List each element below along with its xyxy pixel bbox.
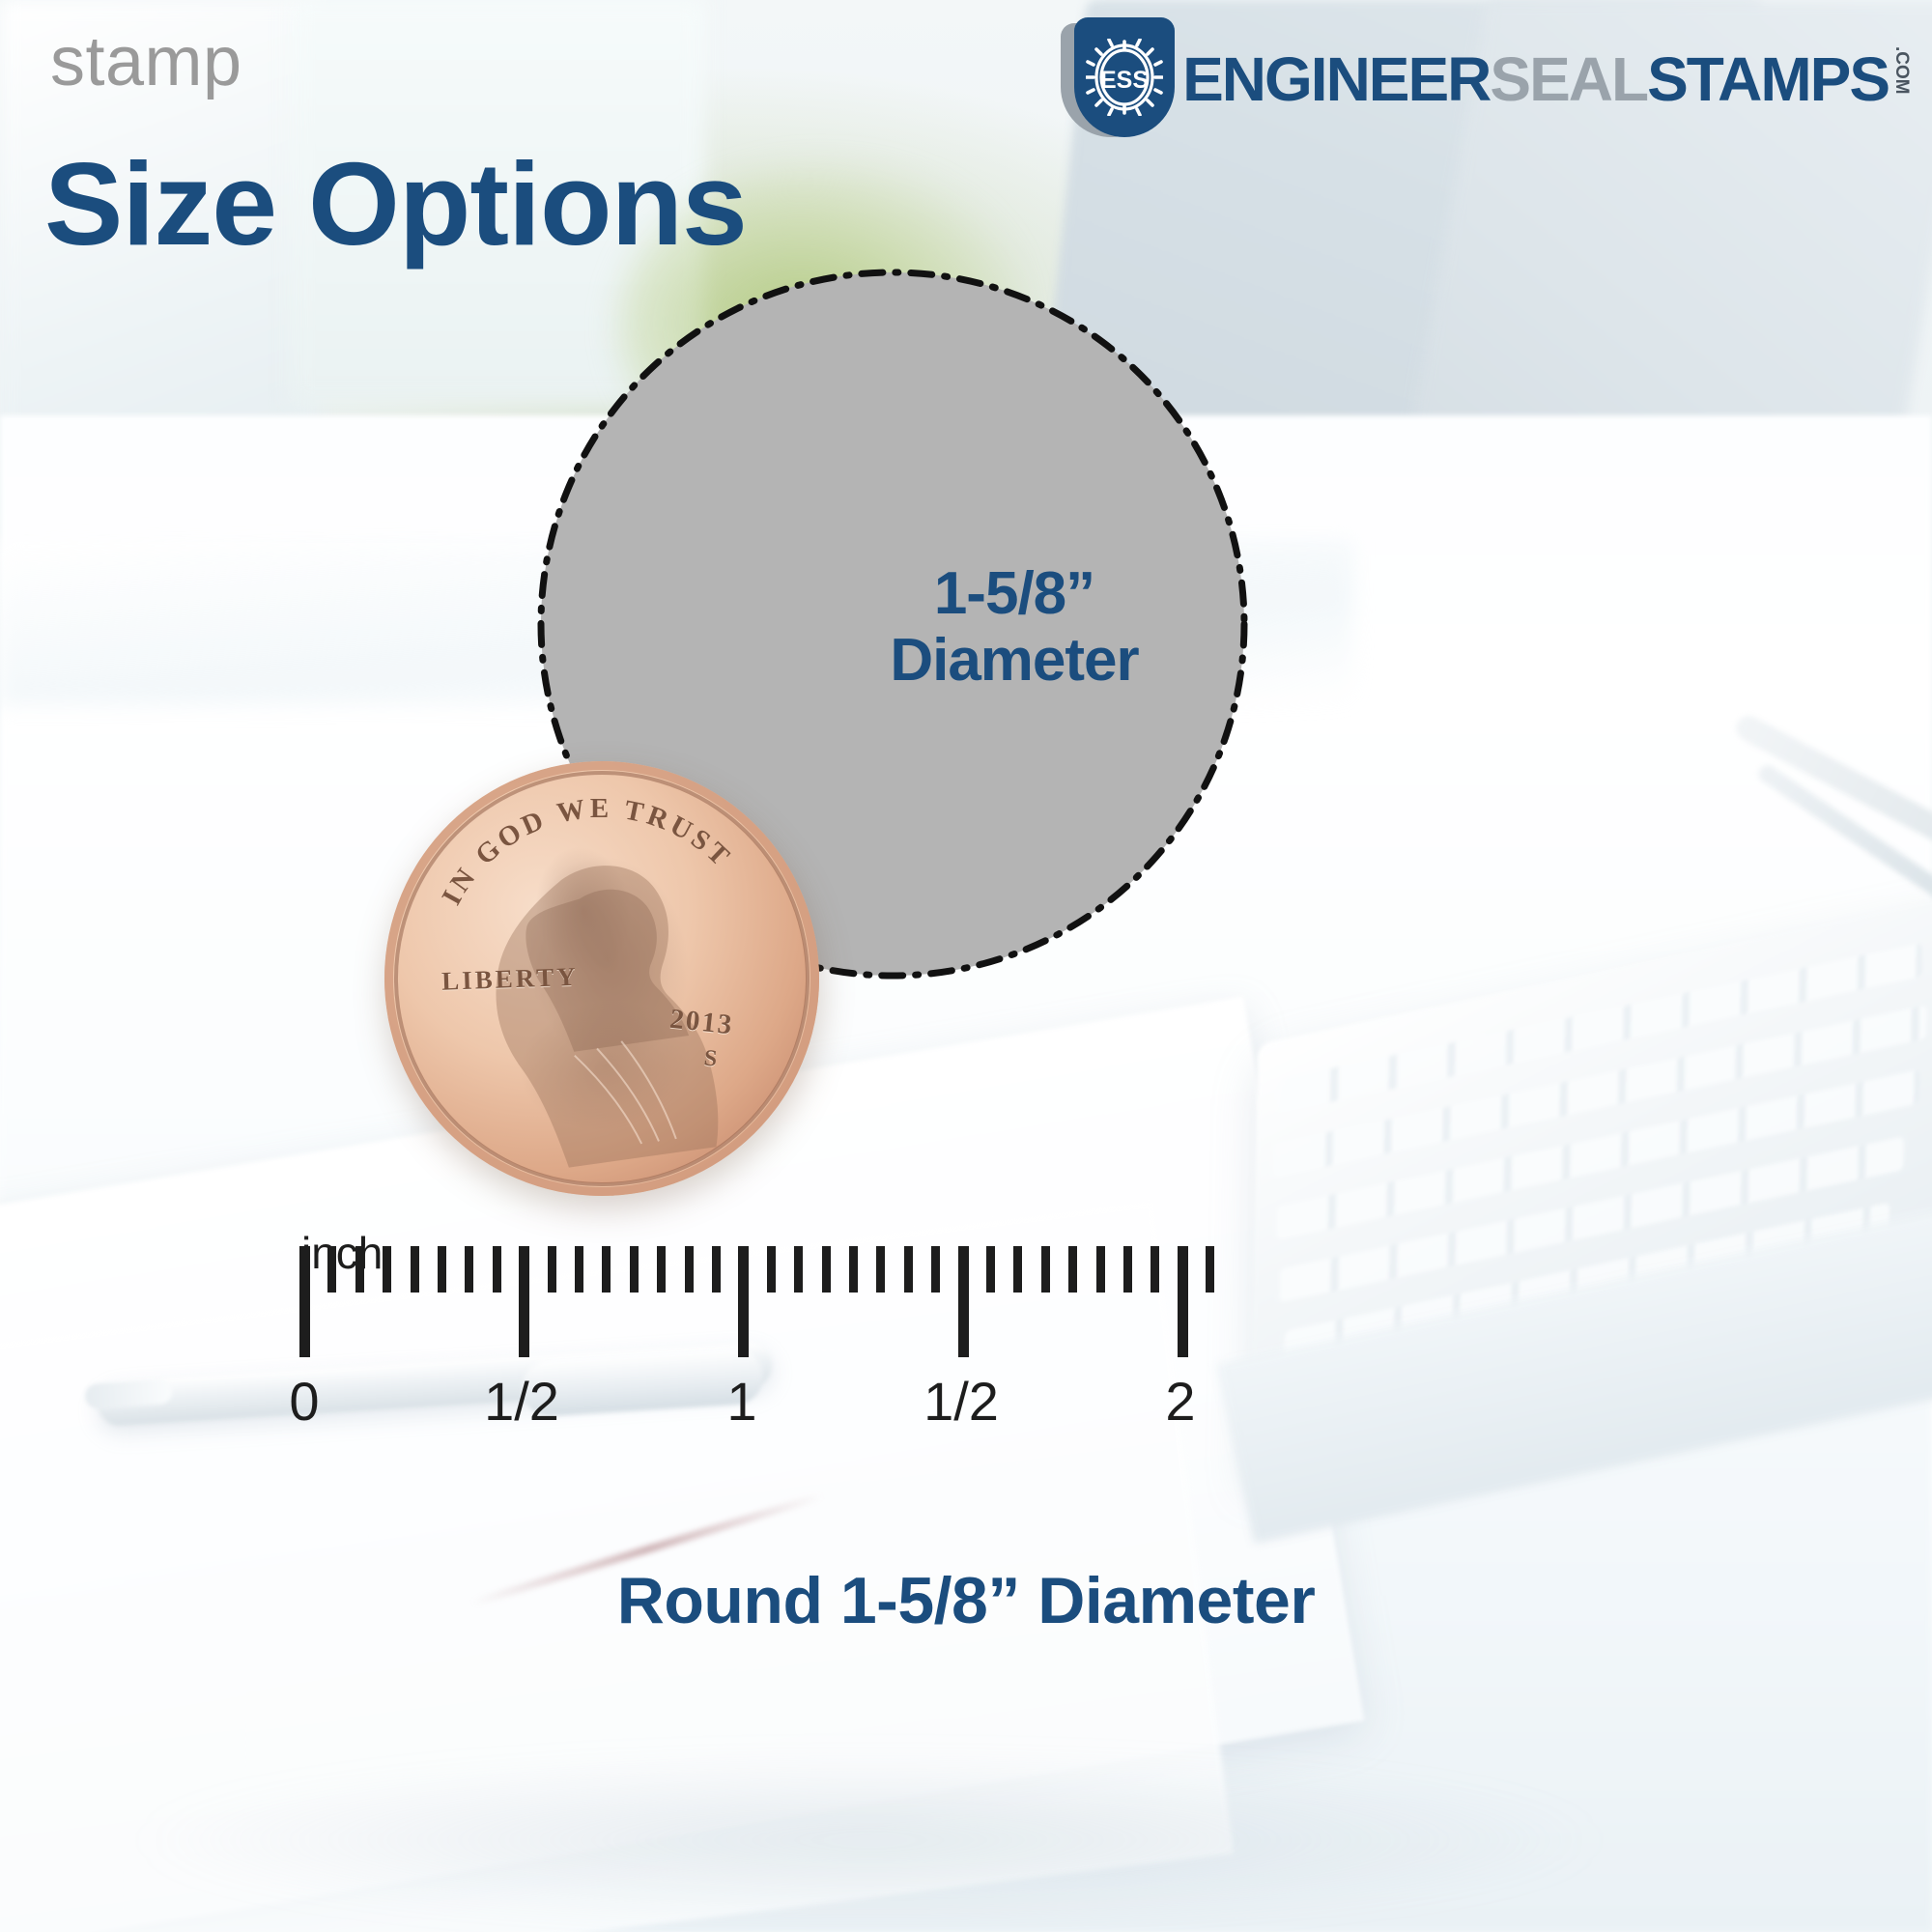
ruler-tick-major (958, 1246, 969, 1357)
ruler-tick-minor (986, 1246, 995, 1293)
kicker-label: stamp (50, 27, 242, 97)
size-circle-label: 1-5/8” Diameter (792, 560, 1236, 695)
ruler-tick-minor (876, 1246, 885, 1293)
ruler-label: 0 (246, 1370, 362, 1433)
ruler-tick-minor (383, 1246, 391, 1293)
ruler-tick-minor (1206, 1246, 1214, 1293)
logo-mark: ESS (1061, 17, 1175, 141)
ruler: 01/211/22 (0, 1246, 1932, 1497)
ruler-label: 1 (684, 1370, 800, 1433)
ruler-tick-minor (931, 1246, 940, 1293)
ruler-tick-minor (355, 1246, 364, 1293)
ruler-tick-minor (685, 1246, 694, 1293)
size-circle-dimension: 1-5/8” (792, 560, 1236, 627)
ruler-label: 1/2 (903, 1370, 1019, 1433)
penny-mint-mark: S (702, 1046, 718, 1073)
ruler-tick-minor (712, 1246, 721, 1293)
background-shadow (145, 1758, 1594, 1922)
ruler-tick-minor (794, 1246, 803, 1293)
ruler-tick-minor (822, 1246, 831, 1293)
logo-wordmark: ENGINEER SEAL STAMPS .COM (1182, 48, 1911, 110)
ruler-tick-minor (1151, 1246, 1159, 1293)
page-title: Size Options (44, 145, 747, 263)
ruler-label: 1/2 (464, 1370, 580, 1433)
logo-word-engineer: ENGINEER (1182, 48, 1490, 110)
ruler-tick-minor (1096, 1246, 1105, 1293)
ruler-tick-minor (1123, 1246, 1132, 1293)
logo-word-stamps: STAMPS (1647, 48, 1889, 110)
ruler-tick-major (738, 1246, 749, 1357)
ruler-tick-major (1178, 1246, 1188, 1357)
logo-word-seal: SEAL (1490, 48, 1647, 110)
size-options-graphic: stamp Size Options (0, 0, 1932, 1932)
ruler-tick-minor (411, 1246, 419, 1293)
ruler-tick-minor (602, 1246, 611, 1293)
size-caption: Round 1-5/8” Diameter (0, 1563, 1932, 1638)
ruler-tick-major (299, 1246, 310, 1357)
ruler-tick-minor (1013, 1246, 1022, 1293)
penny-year-text: 2013 (668, 1004, 735, 1042)
ruler-tick-minor (548, 1246, 556, 1293)
ruler-tick-minor (493, 1246, 501, 1293)
ruler-tick-minor (767, 1246, 776, 1293)
ruler-tick-minor (1041, 1246, 1050, 1293)
gear-icon: ESS (1086, 39, 1163, 116)
ruler-tick-minor (1068, 1246, 1077, 1293)
ruler-tick-minor (438, 1246, 446, 1293)
ruler-tick-minor (575, 1246, 583, 1293)
logo-monogram-text: ESS (1100, 67, 1149, 94)
background-pen-2 (1755, 762, 1932, 917)
penny-coin: IN GOD WE TRUST LIBERTY 2013 S (356, 733, 847, 1224)
background-pen (1732, 711, 1932, 878)
size-circle-dimension-unit: Diameter (792, 627, 1236, 694)
ruler-tick-minor (630, 1246, 639, 1293)
header: stamp Size Options (0, 0, 1932, 164)
ruler-tick-minor (849, 1246, 858, 1293)
brand-logo[interactable]: ESS ENGINEER SEAL STAMPS .COM (1061, 21, 1911, 137)
ruler-tick-minor (657, 1246, 666, 1293)
shield-icon: ESS (1074, 17, 1175, 137)
ruler-tick-minor (904, 1246, 913, 1293)
ruler-tick-minor (465, 1246, 473, 1293)
ruler-tick-minor (327, 1246, 336, 1293)
ruler-label: 2 (1122, 1370, 1238, 1433)
penny-liberty-text: LIBERTY (441, 962, 580, 997)
ruler-tick-major (519, 1246, 529, 1357)
penny-portrait (356, 733, 847, 1224)
logo-tld: .COM (1892, 46, 1911, 95)
